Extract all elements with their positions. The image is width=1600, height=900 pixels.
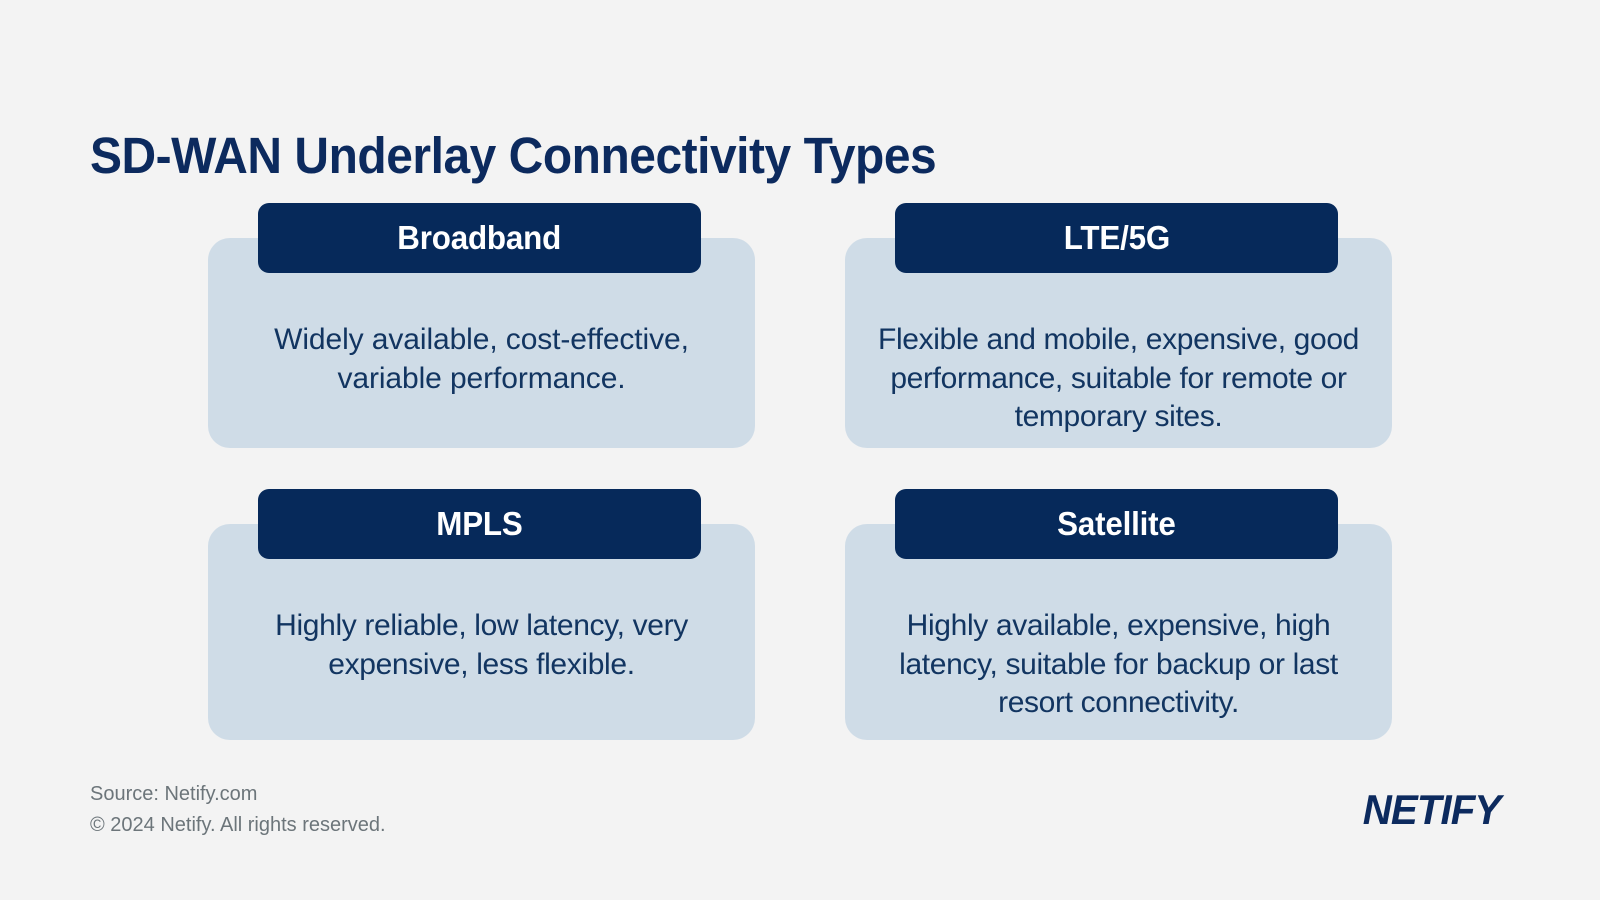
- card-header-broadband: Broadband: [258, 203, 701, 273]
- footer-source: Source: Netify.com: [90, 779, 257, 809]
- card-mpls: MPLS Highly reliable, low latency, very …: [208, 489, 755, 740]
- card-header-lte-5g: LTE/5G: [895, 203, 1338, 273]
- card-header-mpls: MPLS: [258, 489, 701, 559]
- card-header-label: MPLS: [436, 506, 522, 542]
- connectivity-card-grid: Broadband Widely available, cost-effecti…: [208, 203, 1392, 740]
- card-description: Highly reliable, low latency, very expen…: [230, 607, 733, 684]
- card-header-satellite: Satellite: [895, 489, 1338, 559]
- card-header-label: LTE/5G: [1063, 220, 1169, 256]
- card-description: Flexible and mobile, expensive, good per…: [867, 321, 1370, 437]
- card-header-label: Satellite: [1057, 506, 1176, 542]
- card-description: Widely available, cost-effective, variab…: [230, 321, 733, 398]
- page-title: SD-WAN Underlay Connectivity Types: [90, 126, 936, 186]
- card-broadband: Broadband Widely available, cost-effecti…: [208, 203, 755, 448]
- card-lte-5g: LTE/5G Flexible and mobile, expensive, g…: [845, 203, 1392, 448]
- infographic-canvas: SD-WAN Underlay Connectivity Types Broad…: [0, 0, 1600, 900]
- card-satellite: Satellite Highly available, expensive, h…: [845, 489, 1392, 740]
- netify-logo: NETIFY: [1362, 786, 1500, 834]
- footer-copyright: © 2024 Netify. All rights reserved.: [90, 810, 386, 840]
- card-description: Highly available, expensive, high latenc…: [867, 607, 1370, 723]
- card-header-label: Broadband: [398, 220, 562, 256]
